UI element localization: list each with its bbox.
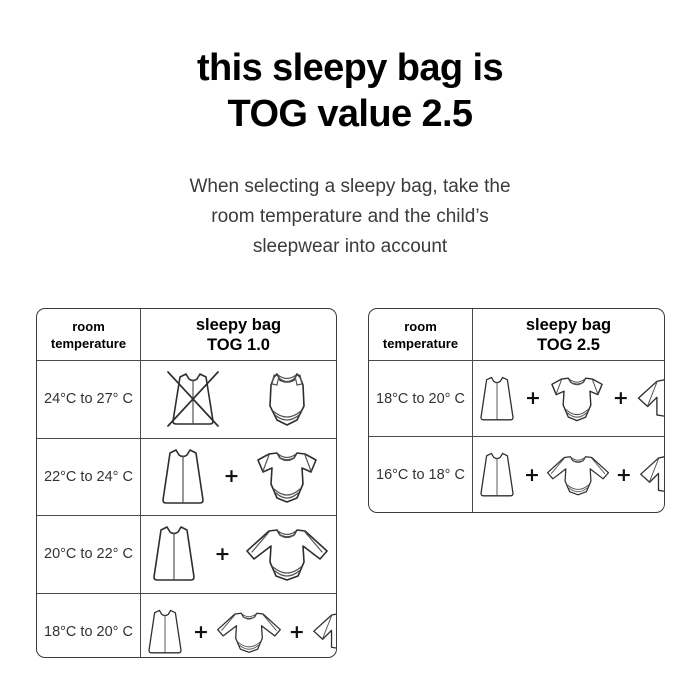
plus-icon: +: [612, 389, 630, 408]
table-header-row: room temperature sleepy bag TOG 1.0: [37, 309, 336, 361]
sleepy-bag-icon: [473, 446, 521, 504]
plus-icon: +: [214, 545, 232, 564]
temperature-value: 16°C to 18° C: [376, 467, 465, 483]
header-sleepy-bag: sleepy bag: [526, 315, 611, 335]
page-subtitle-line-2: room temperature and the child’s: [0, 202, 700, 232]
plus-icon: +: [523, 466, 541, 485]
table-row: 22°C to 24° C +: [37, 439, 336, 517]
cardigan-icon: [635, 450, 665, 500]
table-header-row: room temperature sleepy bag TOG 2.5: [369, 309, 664, 361]
cardigan-icon: [309, 607, 337, 657]
bodysuit-long-sleeve-icon: [213, 607, 285, 657]
header-cell-sleepy-bag: sleepy bag TOG 1.0: [141, 309, 336, 360]
cell-temperature: 24°C to 27° C: [37, 361, 141, 438]
header-cell-sleepy-bag: sleepy bag TOG 2.5: [473, 309, 664, 360]
bodysuit-short-sleeve-icon: [250, 446, 324, 508]
table-row: 18°C to 20° C +: [37, 594, 336, 659]
header-cell-room-temperature: room temperature: [369, 309, 473, 360]
page-subtitle: When selecting a sleepy bag, take the ro…: [0, 172, 700, 262]
bodysuit-long-sleeve-icon: [543, 451, 613, 499]
header-tog-value: TOG 2.5: [537, 335, 600, 355]
cell-temperature: 16°C to 18° C: [369, 437, 473, 513]
temperature-value: 22°C to 24° C: [44, 469, 133, 485]
cell-garments: +: [141, 516, 336, 593]
temperature-value: 18°C to 20° C: [44, 624, 133, 640]
header-sleepy-bag: sleepy bag: [196, 315, 281, 335]
header-temperature: temperature: [383, 335, 458, 352]
cell-garments: + +: [141, 594, 337, 659]
sleepy-bag-icon: [473, 370, 521, 428]
cell-garments: + +: [473, 437, 665, 513]
bodysuit-long-sleeve-icon: [241, 523, 333, 585]
page-subtitle-line-3: sleepwear into account: [0, 232, 700, 262]
cell-garments: +: [141, 439, 336, 516]
page-title-line-1: this sleepy bag is: [0, 45, 700, 91]
cell-temperature: 18°C to 20° C: [37, 594, 141, 659]
header-room: room: [404, 318, 437, 335]
cardigan-icon: [633, 373, 665, 425]
sleepy-bag-icon: [153, 444, 213, 510]
plus-icon: +: [192, 623, 210, 642]
table-row: 24°C to 27° C: [37, 361, 336, 439]
temperature-value: 24°C to 27° C: [44, 391, 133, 407]
plus-icon: +: [524, 389, 542, 408]
table-row: 20°C to 22° C +: [37, 516, 336, 594]
tog-2-5-table: room temperature sleepy bag TOG 2.5 18°C…: [368, 308, 665, 513]
temperature-value: 18°C to 20° C: [376, 391, 465, 407]
bodysuit-short-sleeve-icon: [545, 372, 609, 426]
header-temperature: temperature: [51, 335, 126, 352]
cell-garments: [141, 361, 336, 438]
table-row: 16°C to 18° C +: [369, 437, 664, 513]
sleepy-bag-crossed-out-icon: [162, 366, 224, 432]
sleepy-bag-icon: [144, 521, 204, 587]
plus-icon: +: [288, 623, 306, 642]
bodysuit-sleeveless-icon: [258, 366, 316, 432]
header-room: room: [72, 318, 105, 335]
cell-temperature: 18°C to 20° C: [369, 361, 473, 436]
temperature-value: 20°C to 22° C: [44, 546, 133, 562]
table-row: 18°C to 20° C +: [369, 361, 664, 437]
header-tog-value: TOG 1.0: [207, 335, 270, 355]
header-cell-room-temperature: room temperature: [37, 309, 141, 360]
cell-temperature: 20°C to 22° C: [37, 516, 141, 593]
page-title-line-2: TOG value 2.5: [0, 91, 700, 137]
cell-temperature: 22°C to 24° C: [37, 439, 141, 516]
plus-icon: +: [615, 466, 633, 485]
page-title: this sleepy bag is TOG value 2.5: [0, 45, 700, 137]
cell-garments: + +: [473, 361, 665, 436]
plus-icon: +: [223, 467, 241, 486]
page-subtitle-line-1: When selecting a sleepy bag, take the: [0, 172, 700, 202]
sleepy-bag-icon: [141, 603, 189, 658]
tog-1-0-table: room temperature sleepy bag TOG 1.0 24°C…: [36, 308, 337, 658]
